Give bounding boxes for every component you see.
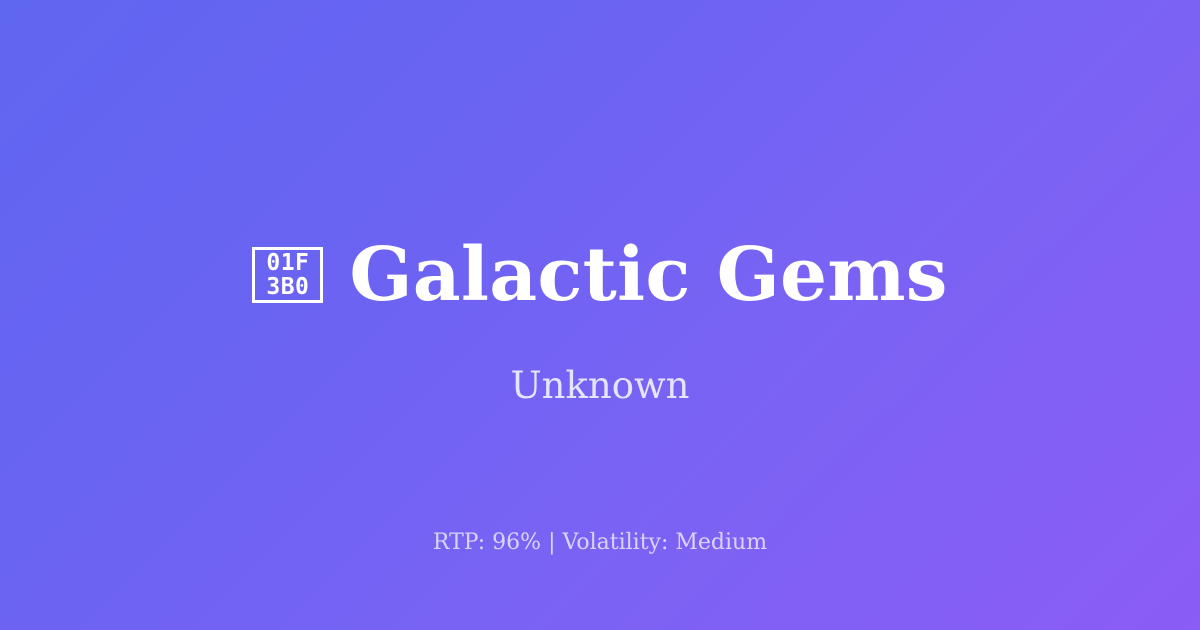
game-stats-line: RTP: 96% | Volatility: Medium bbox=[0, 528, 1200, 558]
subtitle-provider: Unknown bbox=[0, 363, 1200, 409]
page-title: Galactic Gems bbox=[349, 232, 947, 318]
slot-machine-icon: 01F 3B0 bbox=[252, 247, 323, 303]
tofu-codepoint-bottom: 3B0 bbox=[266, 275, 309, 299]
title-row: 01F 3B0 Galactic Gems bbox=[0, 232, 1200, 318]
game-preview-card: 01F 3B0 Galactic Gems Unknown RTP: 96% |… bbox=[0, 0, 1200, 630]
tofu-codepoint-top: 01F bbox=[266, 251, 309, 275]
